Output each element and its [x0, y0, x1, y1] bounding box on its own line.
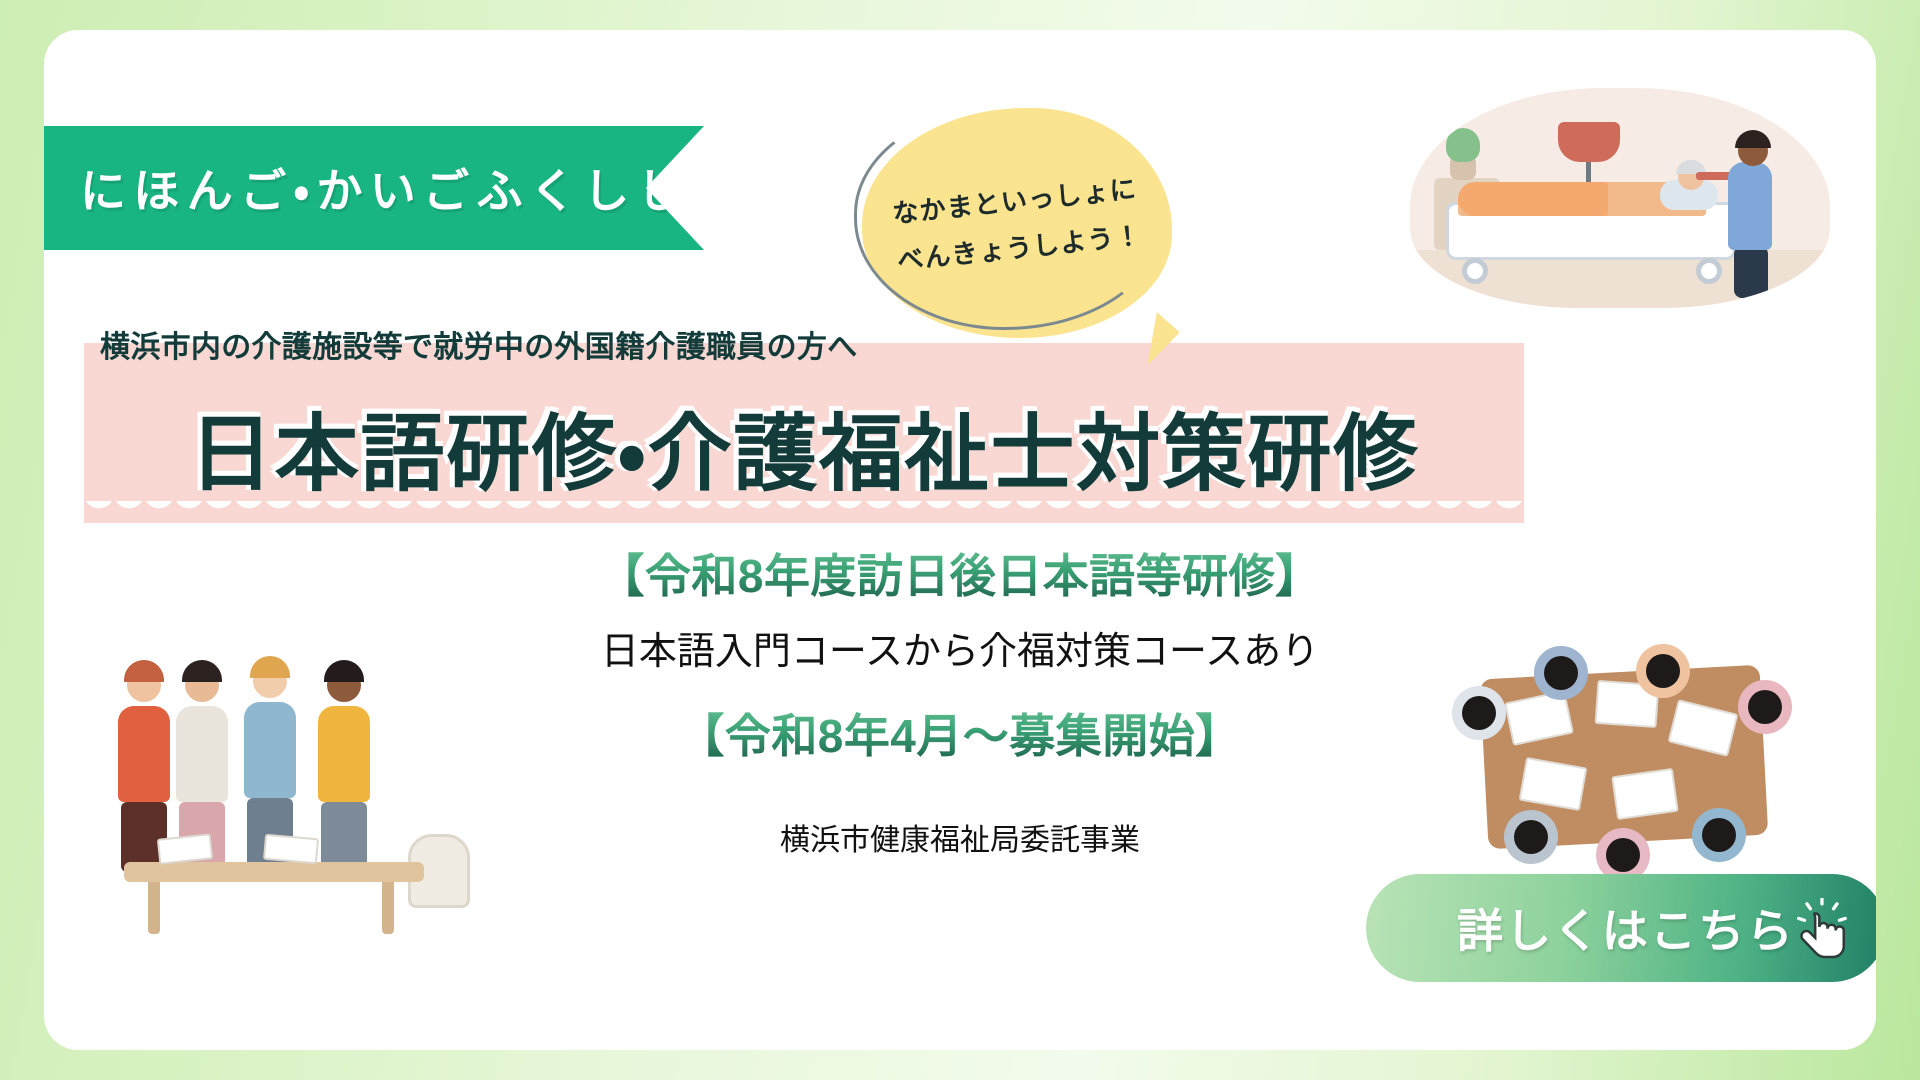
illustration-open-book: [1611, 768, 1679, 820]
hand-pointer-icon: [1790, 898, 1852, 964]
illustration-caregiver-hair: [1735, 130, 1771, 148]
details-button[interactable]: 詳しくはこちら: [1366, 874, 1876, 982]
illustration-blanket: [1458, 182, 1608, 216]
title-banner: 日本語研修・介護福祉士対策研修: [84, 343, 1524, 523]
page-title: 日本語研修・介護福祉士対策研修: [84, 387, 1524, 508]
illustration-table-leg: [382, 878, 394, 934]
organizer-note: 横浜市健康福祉局委託事業: [44, 815, 1876, 859]
ribbon-banner: にほんご・かいごふくしし: [44, 126, 704, 250]
illustration-table-leg: [148, 878, 160, 934]
page-subtitle: 横浜市内の介護施設等で就労中の外国籍介護職員の方へ: [100, 322, 858, 366]
details-button-label: 詳しくはこちら: [1457, 895, 1795, 961]
ribbon-label: にほんご・かいごふくしし: [80, 155, 690, 221]
illustration-lamp-shade: [1558, 122, 1620, 162]
speech-bubble-text: なかまといっしょに べんきょうしよう！: [851, 92, 1183, 353]
illustration-bed-wheel: [1462, 258, 1488, 284]
illustration-tabletop: [124, 862, 424, 882]
application-period-heading: 【令和8年4月〜募集開始】: [44, 700, 1876, 766]
illustration-bed-wheel: [1696, 258, 1722, 284]
illustration-plant: [1446, 128, 1480, 162]
speech-bubble: なかまといっしょに べんきょうしよう！: [862, 108, 1172, 338]
top-down-study-table-illustration: [1446, 650, 1806, 900]
course-heading-primary: 【令和8年度訪日後日本語等研修】: [44, 540, 1876, 606]
illustration-caregiver-body: [1728, 162, 1772, 250]
illustration-caregiver-legs: [1734, 246, 1768, 298]
course-description: 日本語入門コースから介福対策コースあり: [44, 620, 1876, 675]
banner-card: なかまといっしょに べんきょうしよう！ にほんご・かいごふくしし 横浜市内の介護…: [44, 30, 1876, 1050]
caregiver-bedside-illustration: [1410, 88, 1830, 308]
